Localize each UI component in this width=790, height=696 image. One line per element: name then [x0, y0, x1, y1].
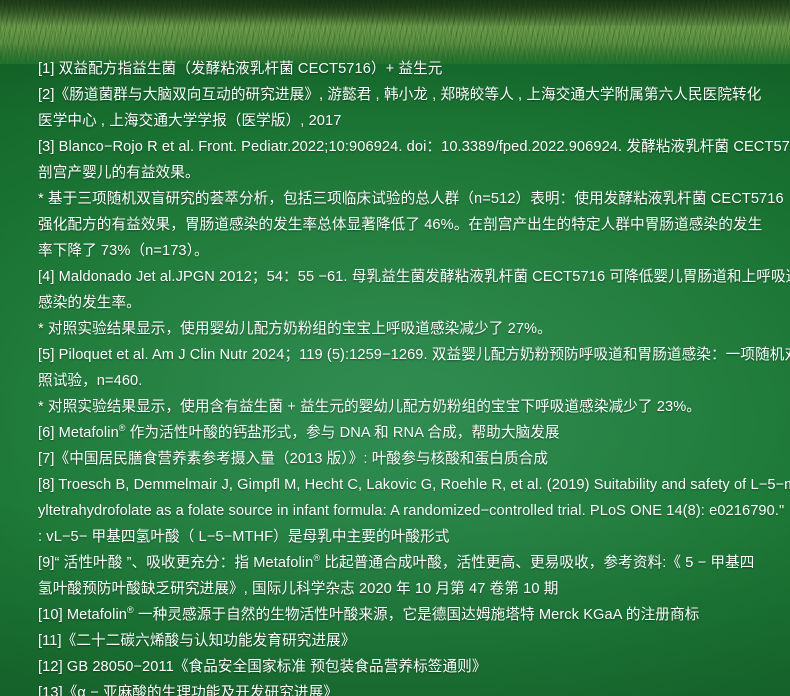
reference-line: 感染的发生率。: [38, 290, 774, 316]
reference-line: [13]《α − 亚麻酸的生理功能及开发研究进展》: [38, 680, 774, 696]
reference-line: 剖宫产婴儿的有益效果。: [38, 160, 774, 186]
reference-line: [4] Maldonado Jet al.JPGN 2012；54：55 −61…: [38, 264, 774, 290]
reference-line: [6] Metafolin® 作为活性叶酸的钙盐形式，参与 DNA 和 RNA …: [38, 420, 774, 446]
reference-line: 照试验，n=460.: [38, 368, 774, 394]
registered-trademark-mark: ®: [313, 553, 320, 563]
reference-line: [3] Blanco−Rojo R et al. Front. Pediatr.…: [38, 134, 774, 160]
reference-line: [9]“ 活性叶酸 ”、吸收更充分：指 Metafolin® 比起普通合成叶酸，…: [38, 550, 774, 576]
reference-line: * 对照实验结果显示，使用含有益生菌 + 益生元的婴幼儿配方奶粉组的宝宝下呼吸道…: [38, 394, 774, 420]
registered-trademark-mark: ®: [119, 423, 126, 433]
reference-line: 氢叶酸预防叶酸缺乏研究进展》, 国际儿科学杂志 2020 年 10 月第 47 …: [38, 576, 774, 602]
registered-trademark-mark: ®: [127, 605, 134, 615]
reference-line: [7]《中国居民膳食营养素参考摄入量（2013 版）》: 叶酸参与核酸和蛋白质合…: [38, 446, 774, 472]
reference-line: [5] Piloquet et al. Am J Clin Nutr 2024；…: [38, 342, 774, 368]
reference-line: [2]《肠道菌群与大脑双向互动的研究进展》, 游懿君 , 韩小龙 , 郑晓皎等人…: [38, 82, 774, 108]
reference-footnotes-page: [1] 双益配方指益生菌（发酵粘液乳杆菌 CECT5716）+ 益生元[2]《肠…: [0, 0, 790, 696]
reference-line: 医学中心 , 上海交通大学学报（医学版）, 2017: [38, 108, 774, 134]
reference-line: 强化配方的有益效果，胃肠道感染的发生率总体显著降低了 46%。在剖宫产出生的特定…: [38, 212, 774, 238]
reference-line: yltetrahydrofolate as a folate source in…: [38, 498, 774, 524]
references-list: [1] 双益配方指益生菌（发酵粘液乳杆菌 CECT5716）+ 益生元[2]《肠…: [38, 56, 774, 696]
reference-line: [12] GB 28050−2011《食品安全国家标准 预包装食品营养标签通则》: [38, 654, 774, 680]
reference-line: [10] Metafolin® 一种灵感源于自然的生物活性叶酸来源，它是德国达姆…: [38, 602, 774, 628]
reference-line: [8] Troesch B, Demmelmair J, Gimpfl M, H…: [38, 472, 774, 498]
reference-line: [11]《二十二碳六烯酸与认知功能发育研究进展》: [38, 628, 774, 654]
reference-line: * 对照实验结果显示，使用婴幼儿配方奶粉组的宝宝上呼吸道感染减少了 27%。: [38, 316, 774, 342]
reference-line: : vL−5− 甲基四氢叶酸（ L−5−MTHF）是母乳中主要的叶酸形式: [38, 524, 774, 550]
reference-line: [1] 双益配方指益生菌（发酵粘液乳杆菌 CECT5716）+ 益生元: [38, 56, 774, 82]
reference-line: 率下降了 73%（n=173）。: [38, 238, 774, 264]
reference-line: * 基于三项随机双盲研究的荟萃分析，包括三项临床试验的总人群（n=512）表明：…: [38, 186, 774, 212]
